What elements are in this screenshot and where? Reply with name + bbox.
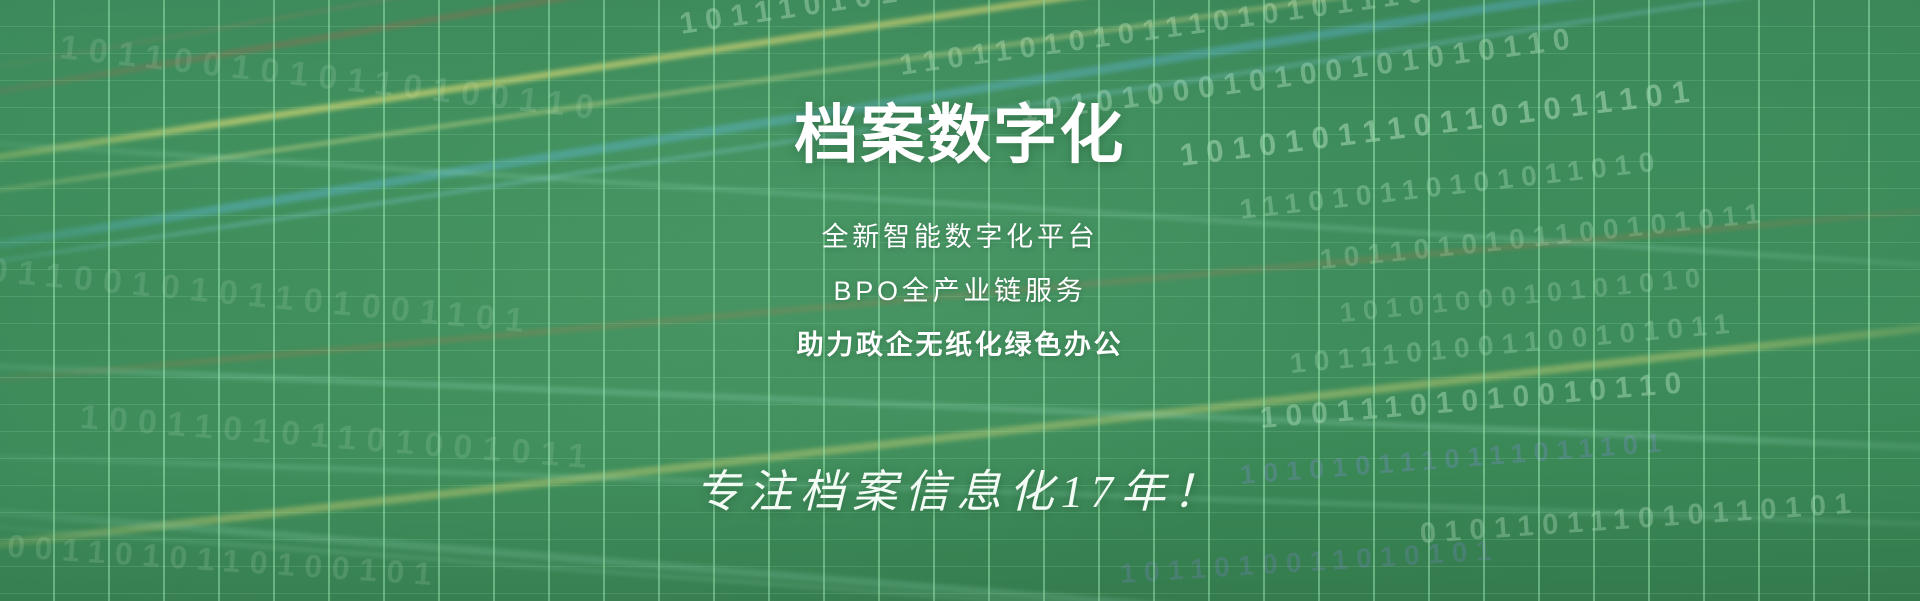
subtitle-line-1: 全新智能数字化平台 bbox=[0, 224, 1920, 251]
hero-banner: 1011101010001010101011010110110101011101… bbox=[0, 0, 1920, 601]
subtitle-list: 全新智能数字化平台 BPO全产业链服务 助力政企无纸化绿色办公 bbox=[0, 224, 1920, 386]
subtitle-line-3: 助力政企无纸化绿色办公 bbox=[0, 332, 1920, 359]
tagline-script: 专注档案信息化17年！ bbox=[0, 466, 1920, 519]
subtitle-line-2: BPO全产业链服务 bbox=[0, 278, 1920, 305]
banner-content: 档案数字化 全新智能数字化平台 BPO全产业链服务 助力政企无纸化绿色办公 专注… bbox=[0, 0, 1920, 601]
page-title: 档案数字化 bbox=[0, 103, 1920, 167]
